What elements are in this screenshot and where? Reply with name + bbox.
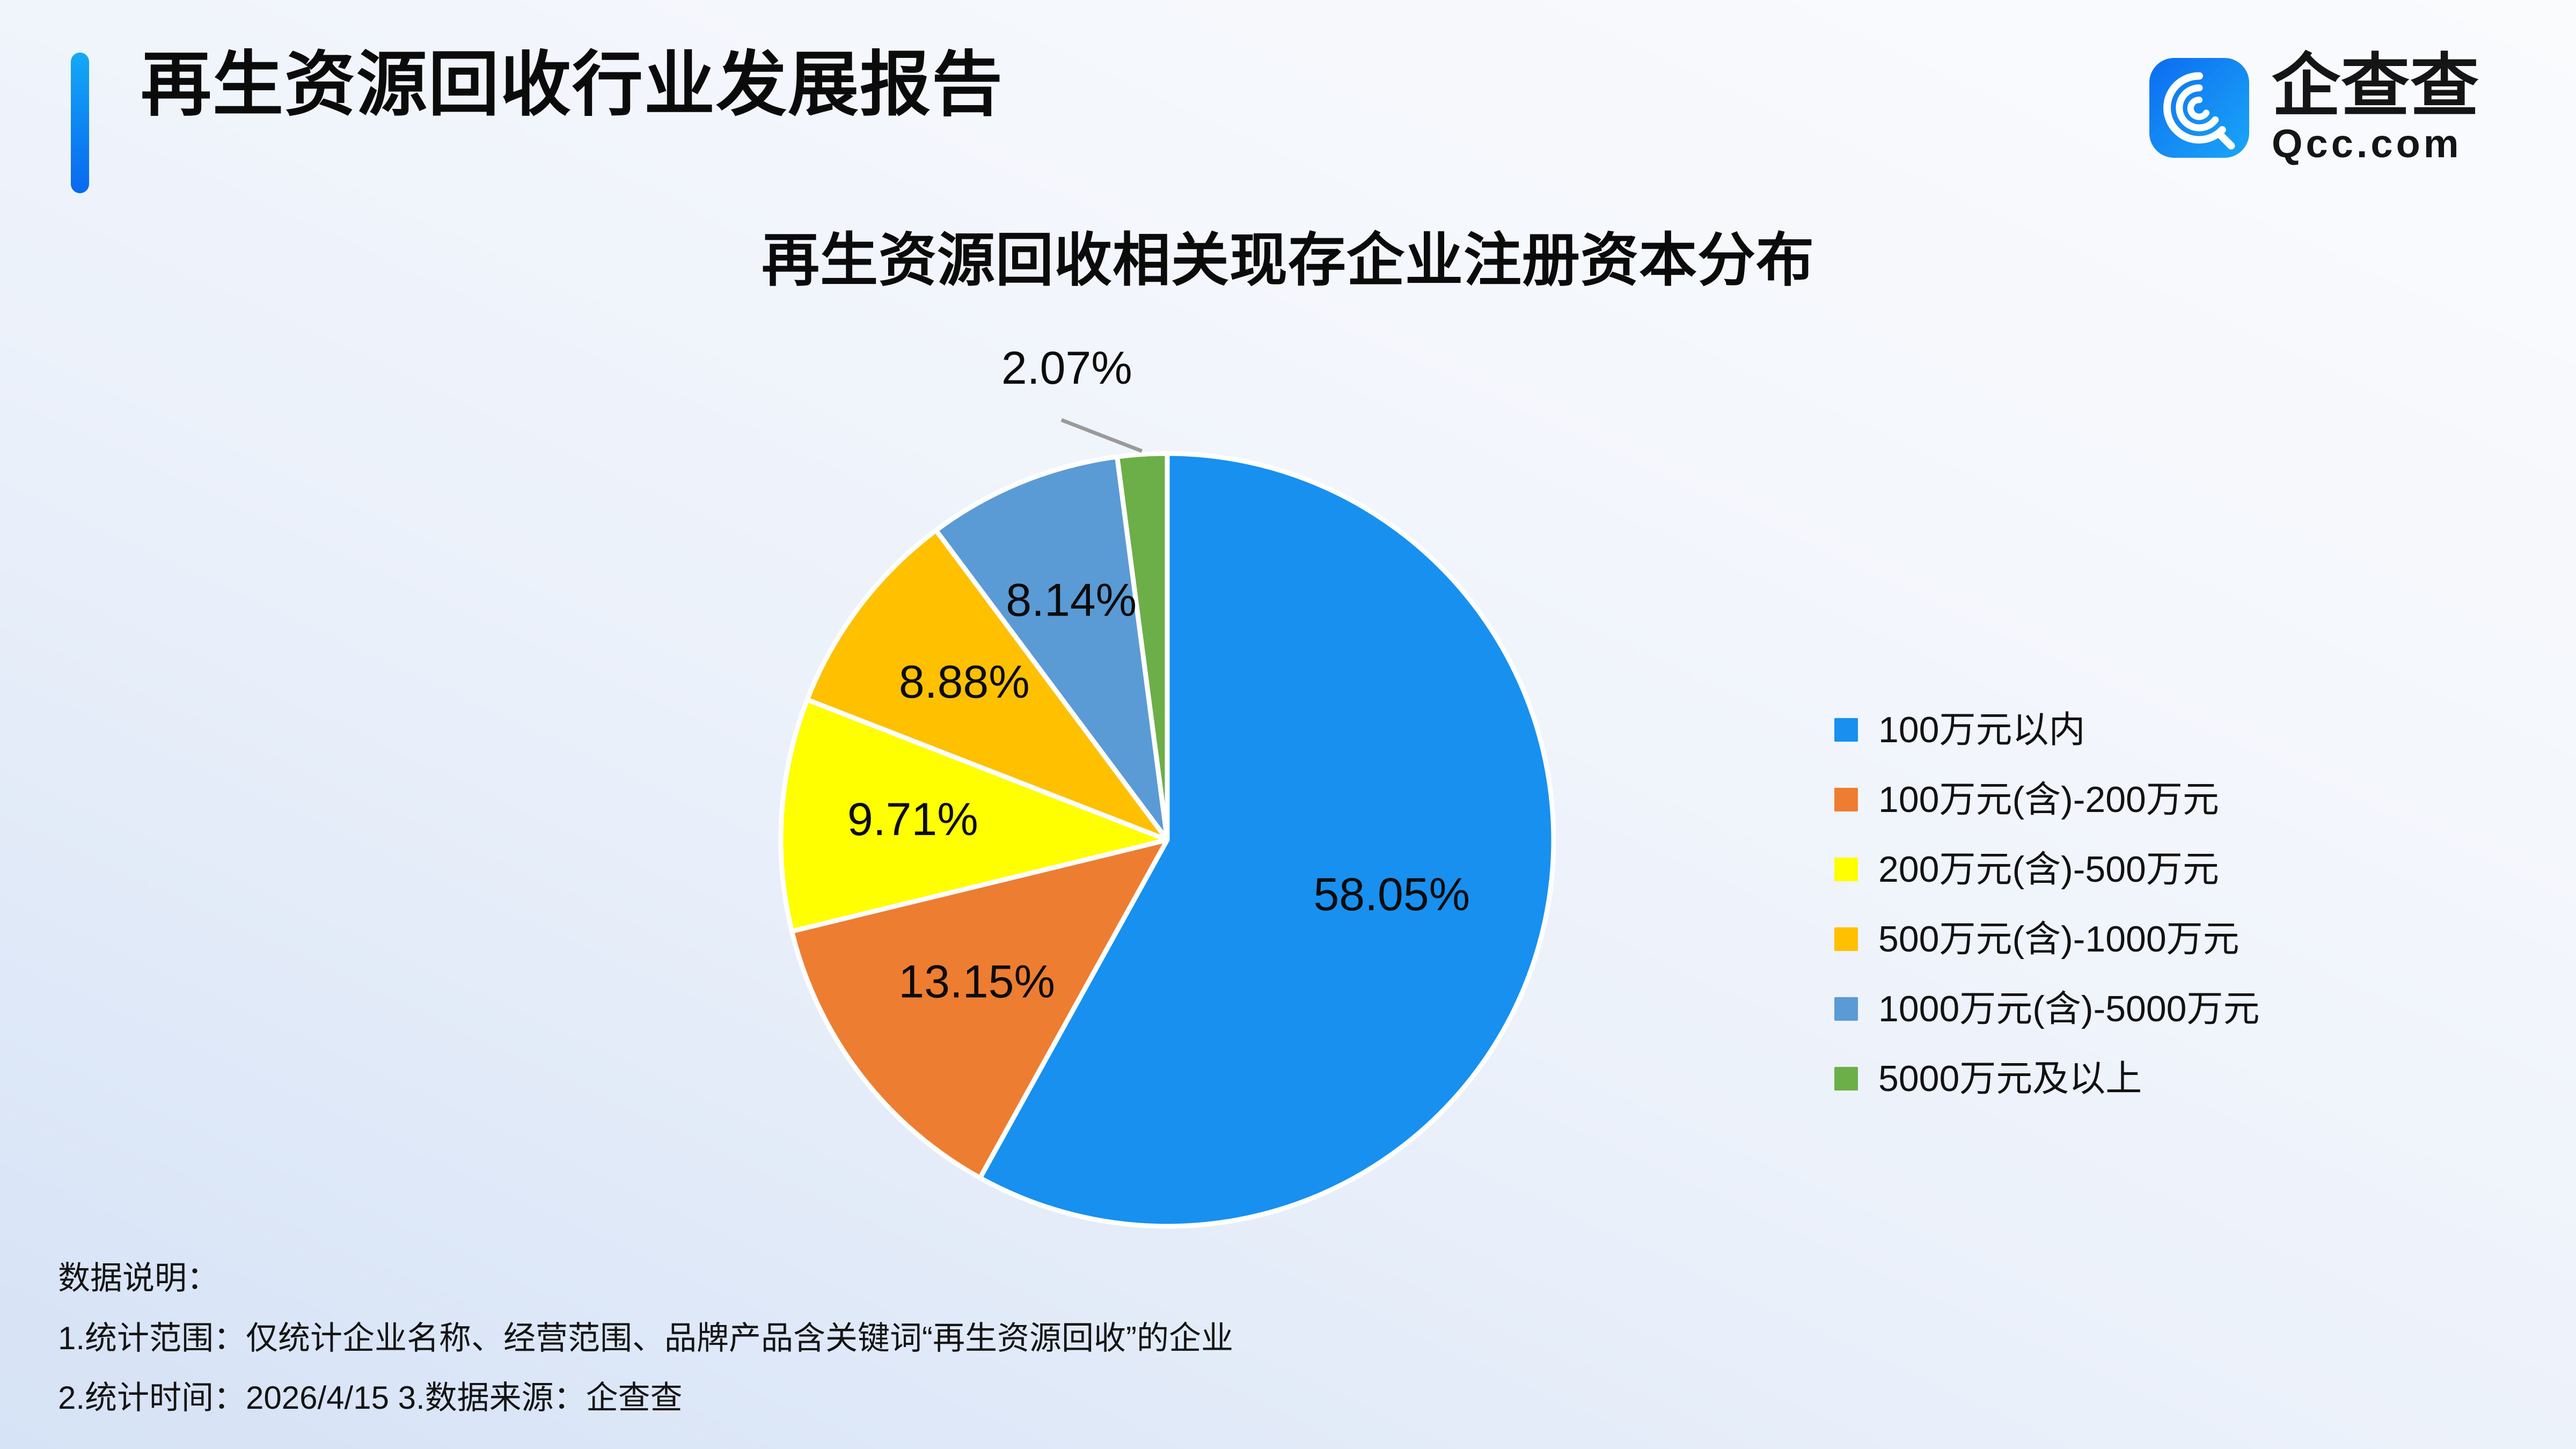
- brand-text: 企查查 Qcc.com: [2272, 52, 2479, 164]
- notes-heading: 数据说明：: [58, 1260, 1233, 1296]
- legend-color-swatch: [1834, 788, 1858, 811]
- legend-item[interactable]: 500万元(含)-1000万元: [1834, 921, 2259, 957]
- pie-callout-group: [1062, 420, 1142, 451]
- legend-color-swatch: [1834, 858, 1858, 881]
- legend-item-label: 100万元以内: [1878, 712, 2085, 748]
- legend-item-label: 1000万元(含)-5000万元: [1878, 991, 2259, 1027]
- notes-line-2: 2.统计时间：2026/4/15 3.数据来源：企查查: [58, 1380, 1233, 1416]
- legend-item[interactable]: 1000万元(含)-5000万元: [1834, 991, 2259, 1027]
- legend-color-swatch: [1834, 997, 1858, 1021]
- pie-slice-value-label: 8.88%: [899, 656, 1030, 708]
- notes-line-1: 1.统计范围：仅统计企业名称、经营范围、品牌产品含关键词“再生资源回收”的企业: [58, 1320, 1233, 1356]
- legend-color-swatch: [1834, 1067, 1858, 1091]
- data-notes: 数据说明： 1.统计范围：仅统计企业名称、经营范围、品牌产品含关键词“再生资源回…: [58, 1260, 1233, 1416]
- brand-name-cn: 企查查: [2272, 52, 2479, 122]
- legend-item-label: 100万元(含)-200万元: [1878, 781, 2219, 818]
- title-accent-bar: [71, 53, 89, 193]
- legend-item-label: 500万元(含)-1000万元: [1878, 921, 2240, 957]
- chart-legend: 100万元以内100万元(含)-200万元200万元(含)-500万元500万元…: [1834, 712, 2259, 1097]
- pie-slice-value-label: 13.15%: [898, 956, 1055, 1008]
- pie-callout-leader-line: [1062, 420, 1142, 451]
- pie-chart: 58.05%13.15%9.71%8.88%8.14%2.07%: [563, 301, 1787, 1267]
- legend-item[interactable]: 5000万元及以上: [1834, 1060, 2259, 1097]
- brand-name-en: Qcc.com: [2272, 123, 2479, 165]
- page-title: 再生资源回收行业发展报告: [141, 49, 1004, 120]
- pie-slice-value-label: 9.71%: [847, 794, 978, 845]
- qcc-spiral-q-icon: [2149, 58, 2249, 158]
- pie-slice-value-label: 2.07%: [1001, 342, 1132, 394]
- legend-color-swatch: [1834, 927, 1858, 951]
- legend-color-swatch: [1834, 718, 1858, 742]
- chart-title: 再生资源回收相关现存企业注册资本分布: [0, 214, 2576, 297]
- legend-item[interactable]: 100万元(含)-200万元: [1834, 781, 2259, 818]
- brand-logo[interactable]: 企查查 Qcc.com: [2149, 52, 2479, 164]
- pie-slice-value-label: 58.05%: [1313, 869, 1470, 920]
- slide-canvas: 再生资源回收行业发展报告 企查查 Qcc.com 再生资源回收相关现存企业注册资…: [0, 0, 2576, 1449]
- legend-item[interactable]: 200万元(含)-500万元: [1834, 851, 2259, 888]
- pie-slice-value-label: 8.14%: [1006, 574, 1137, 626]
- legend-item-label: 5000万元及以上: [1878, 1060, 2142, 1097]
- legend-item-label: 200万元(含)-500万元: [1878, 851, 2219, 888]
- legend-item[interactable]: 100万元以内: [1834, 712, 2259, 748]
